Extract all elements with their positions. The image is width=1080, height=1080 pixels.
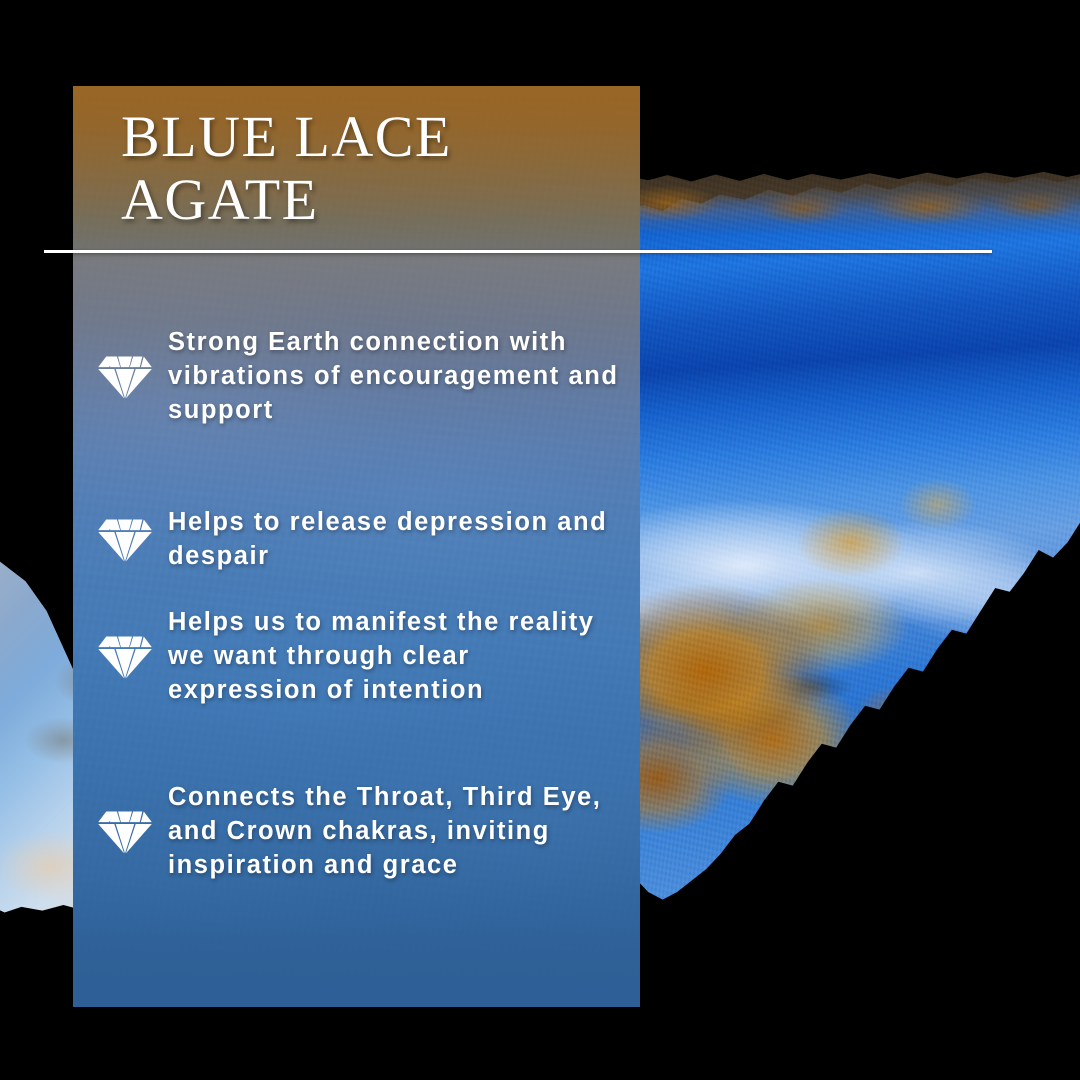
list-item-text: Helps to release depression and despair <box>168 506 626 574</box>
list-item: Strong Earth connection with vibrations … <box>96 326 626 428</box>
diamond-gem-icon <box>96 807 154 857</box>
list-item: Helps to release depression and despair <box>96 506 626 574</box>
list-item: Helps us to manifest the reality we want… <box>96 606 626 708</box>
list-item-text: Connects the Throat, Third Eye, and Crow… <box>168 781 626 883</box>
agate-specimen-texture <box>600 170 1080 930</box>
panel-content: BLUE LACE AGATE <box>73 86 640 1007</box>
benefits-list: Strong Earth connection with vibrations … <box>73 86 640 1007</box>
diamond-gem-icon <box>96 632 154 682</box>
title-divider <box>44 250 992 253</box>
diamond-gem-icon <box>96 352 154 402</box>
agate-specimen-image <box>600 170 1080 930</box>
list-item: Connects the Throat, Third Eye, and Crow… <box>96 781 626 883</box>
info-panel: BLUE LACE AGATE <box>73 86 640 1007</box>
list-item-text: Helps us to manifest the reality we want… <box>168 606 626 708</box>
list-item-text: Strong Earth connection with vibrations … <box>168 326 626 428</box>
infographic-canvas: BLUE LACE AGATE <box>0 0 1080 1080</box>
diamond-gem-icon <box>96 515 154 565</box>
